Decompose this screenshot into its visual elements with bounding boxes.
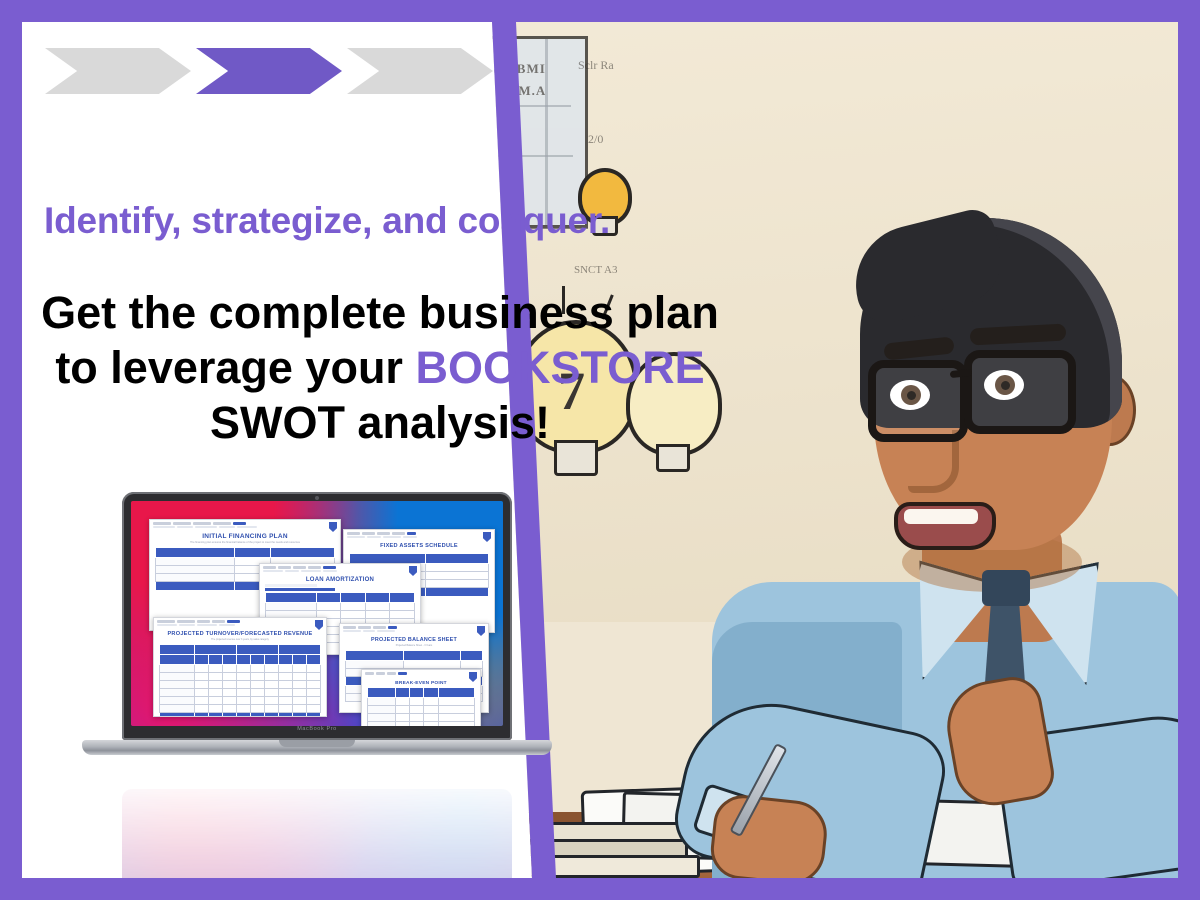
sketch-label: Sclr Ra <box>578 58 614 73</box>
tie-knot <box>982 570 1030 606</box>
window-title: FIXED ASSETS SCHEDULE <box>344 543 494 549</box>
sketch-label: SNCT A3 <box>574 264 618 276</box>
window-subtitle: The financing plan ensures the financial… <box>150 541 340 544</box>
laptop-model-label: MacBook Pro <box>82 726 552 732</box>
shield-icon <box>329 522 337 532</box>
shield-icon <box>477 626 485 636</box>
tagline: Identify, strategize, and conquer. <box>44 200 610 242</box>
sketch-label: 2/0 <box>588 132 603 147</box>
window-break-even-point[interactable]: BREAK-EVEN POINT <box>361 669 481 726</box>
laptop-mockup: INITIAL FINANCING PLAN The financing pla… <box>82 492 552 782</box>
headline-highlight: BOOKSTORE <box>415 342 704 393</box>
window-subtitle: The projected revenue over 3 years, by s… <box>154 638 326 641</box>
shield-icon <box>315 620 323 630</box>
laptop-lid: INITIAL FINANCING PLAN The financing pla… <box>122 492 512 740</box>
sketch-box <box>300 126 316 154</box>
headline-line-2-prefix: to leverage your <box>55 342 415 393</box>
headline-line-1: Get the complete business plan <box>40 286 720 341</box>
laptop-screen: INITIAL FINANCING PLAN The financing pla… <box>131 501 503 726</box>
chevron-step-3[interactable] <box>347 48 493 94</box>
headline: Get the complete business plan to levera… <box>40 286 720 451</box>
headline-line-2: to leverage your BOOKSTORE <box>40 341 720 396</box>
laptop-base <box>82 740 552 755</box>
sketch-line <box>232 250 292 252</box>
mouth <box>894 502 996 550</box>
slide-canvas: Analyze business Growth Plan B SV SSCA R… <box>22 22 1178 878</box>
break-even-table <box>367 687 475 726</box>
window-tabs[interactable] <box>362 670 480 676</box>
webcam-icon <box>315 496 319 500</box>
window-subtitle: Projected Balance Sheet - 3 Years <box>340 644 488 647</box>
window-projected-turnover[interactable]: PROJECTED TURNOVER/FORECASTED REVENUE Th… <box>153 617 327 717</box>
turnover-table <box>159 644 321 717</box>
slide-root: Analyze business Growth Plan B SV SSCA R… <box>0 0 1200 900</box>
window-title: INITIAL FINANCING PLAN <box>150 533 340 540</box>
shield-icon <box>483 532 491 542</box>
glasses-lens <box>964 350 1076 434</box>
window-title: PROJECTED BALANCE SHEET <box>340 637 488 643</box>
progress-chevrons <box>45 48 493 94</box>
window-title: PROJECTED TURNOVER/FORECASTED REVENUE <box>154 631 326 637</box>
chevron-step-1[interactable] <box>45 48 191 94</box>
laptop-notch <box>279 740 355 747</box>
sketch-line <box>52 127 252 136</box>
chevron-step-2[interactable] <box>196 48 342 94</box>
headline-line-3: SWOT analysis! <box>40 396 720 451</box>
shield-icon <box>409 566 417 576</box>
sketch-box <box>268 108 284 132</box>
window-title: BREAK-EVEN POINT <box>362 681 480 686</box>
window-title: LOAN AMORTIZATION <box>260 577 420 583</box>
laptop-reflection <box>82 774 552 878</box>
